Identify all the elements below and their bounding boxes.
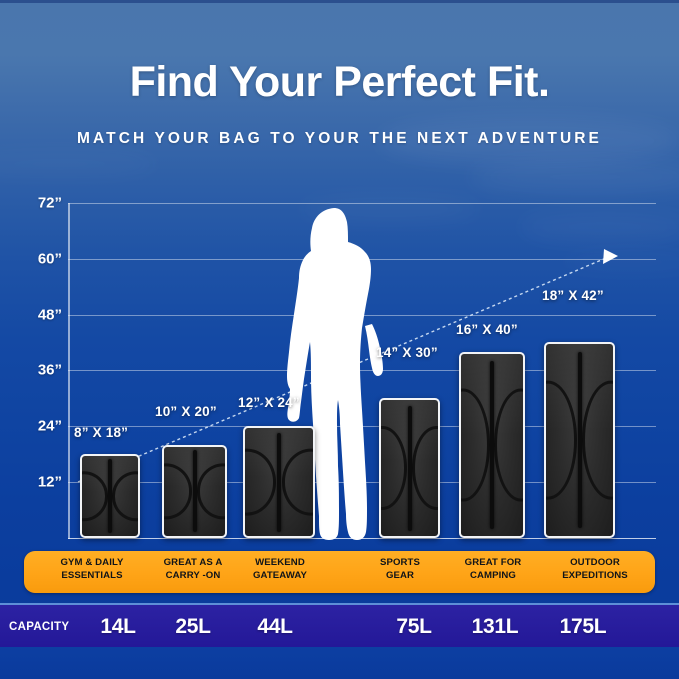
bag-spine-icon	[490, 361, 494, 529]
use-case-cell[interactable]: GYM & DAILYESSENTIALS	[36, 557, 148, 582]
use-case-line: GYM & DAILY	[36, 557, 148, 570]
use-case-cell[interactable]: GREAT AS ACARRY -ON	[148, 557, 238, 582]
y-axis-tick-label: 48”	[0, 306, 62, 323]
capacity-value: 14L	[83, 615, 153, 639]
capacity-value: 131L	[459, 615, 531, 639]
y-axis-tick-label: 36”	[0, 362, 62, 379]
bag-bar[interactable]	[459, 352, 525, 538]
capacity-value: 75L	[379, 615, 449, 639]
use-case-line: GATEAWAY	[228, 570, 332, 583]
bag-dimension-label: 12” X 24”	[238, 395, 300, 410]
bag-bar[interactable]	[379, 398, 440, 538]
use-case-band: GYM & DAILYESSENTIALSGREAT AS ACARRY -ON…	[24, 551, 655, 593]
use-case-line: SPORTS	[352, 557, 448, 570]
bag-dimension-label: 10” X 20”	[155, 404, 217, 419]
use-case-line: CARRY -ON	[148, 570, 238, 583]
capacity-label: CAPACITY	[9, 621, 69, 633]
y-axis-tick-label: 60”	[0, 250, 62, 267]
capacity-band: CAPACITY 14L25L44L75L131L175L	[0, 603, 679, 647]
bag-dimension-label: 18” X 42”	[542, 288, 604, 303]
use-case-cell[interactable]: WEEKENDGATEAWAY	[228, 557, 332, 582]
use-case-cell[interactable]: GREAT FORCAMPING	[442, 557, 544, 582]
capacity-value: 44L	[240, 615, 310, 639]
use-case-line: GEAR	[352, 570, 448, 583]
use-case-line: GREAT AS A	[148, 557, 238, 570]
y-axis-tick-label: 24”	[0, 418, 62, 435]
bag-dimension-label: 14” X 30”	[376, 345, 438, 360]
bag-spine-icon	[408, 406, 412, 531]
bag-bar[interactable]	[80, 454, 140, 538]
bag-dimension-label: 8” X 18”	[74, 425, 128, 440]
bag-spine-icon	[277, 433, 281, 532]
use-case-cell[interactable]: OUTDOOREXPEDITIONS	[540, 557, 650, 582]
use-case-line: CAMPING	[442, 570, 544, 583]
bag-bar[interactable]	[544, 342, 615, 538]
bag-spine-icon	[108, 459, 112, 532]
bag-dimension-label: 16” X 40”	[456, 322, 518, 337]
use-case-line: OUTDOOR	[540, 557, 650, 570]
capacity-value: 25L	[158, 615, 228, 639]
bag-spine-icon	[578, 352, 582, 528]
gridline	[68, 203, 656, 204]
capacity-value: 175L	[545, 615, 621, 639]
infographic-canvas: Find Your Perfect Fit. MATCH YOUR BAG TO…	[0, 0, 679, 679]
use-case-cell[interactable]: SPORTSGEAR	[352, 557, 448, 582]
y-axis-tick-label: 72”	[0, 194, 62, 211]
use-case-line: WEEKEND	[228, 557, 332, 570]
use-case-line: GREAT FOR	[442, 557, 544, 570]
bag-spine-icon	[193, 450, 197, 532]
use-case-line: EXPEDITIONS	[540, 570, 650, 583]
use-case-line: ESSENTIALS	[36, 570, 148, 583]
bag-bar[interactable]	[243, 426, 315, 538]
footer-strip	[0, 647, 679, 679]
bag-bar[interactable]	[162, 445, 227, 538]
y-axis-tick-label: 12”	[0, 474, 62, 491]
